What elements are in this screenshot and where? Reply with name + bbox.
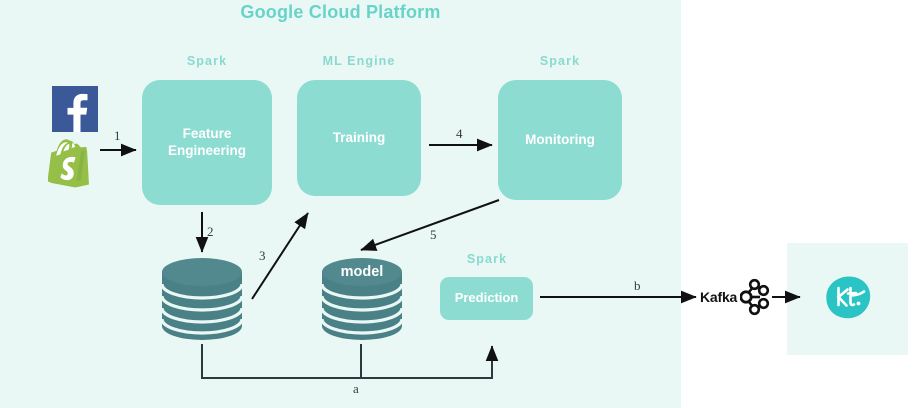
edge-label-5: 5 [430,227,437,243]
facebook-logo[interactable] [52,86,98,132]
training-label: Training [333,130,386,147]
page-title: Google Cloud Platform [0,2,681,23]
edge-label-4: 4 [456,126,463,142]
datastore-feature-store[interactable] [158,258,246,340]
edge-label-b: b [634,278,641,294]
shopify-logo[interactable] [48,138,100,196]
kit-logo[interactable] [824,275,872,320]
stage-label-ml-engine: ML Engine [297,54,421,68]
stage-label-spark-prediction: Spark [440,252,534,266]
stage-label-spark-feature: Spark [142,54,272,68]
diagram-canvas: Google Cloud Platform Spark ML Engine Sp… [0,0,924,408]
process-box-monitoring[interactable]: Monitoring [498,80,622,200]
edge-label-a: a [353,381,359,397]
process-box-feature-engineering[interactable]: Feature Engineering [142,80,272,205]
prediction-label: Prediction [455,290,519,306]
edge-label-1: 1 [114,128,121,144]
process-box-training[interactable]: Training [297,80,421,196]
feature-engineering-text: Feature Engineering [168,126,246,160]
kafka-icon [740,278,770,316]
stage-label-spark-monitoring: Spark [498,54,622,68]
edge-label-2: 2 [207,224,214,240]
feature-engineering-line1: Feature [183,126,232,141]
edge-label-3: 3 [259,248,266,264]
process-box-prediction[interactable]: Prediction [440,277,533,320]
feature-engineering-line2: Engineering [168,143,246,158]
kafka-label: Kafka [700,289,737,305]
monitoring-label: Monitoring [525,132,595,149]
model-store-label: model [318,264,406,280]
